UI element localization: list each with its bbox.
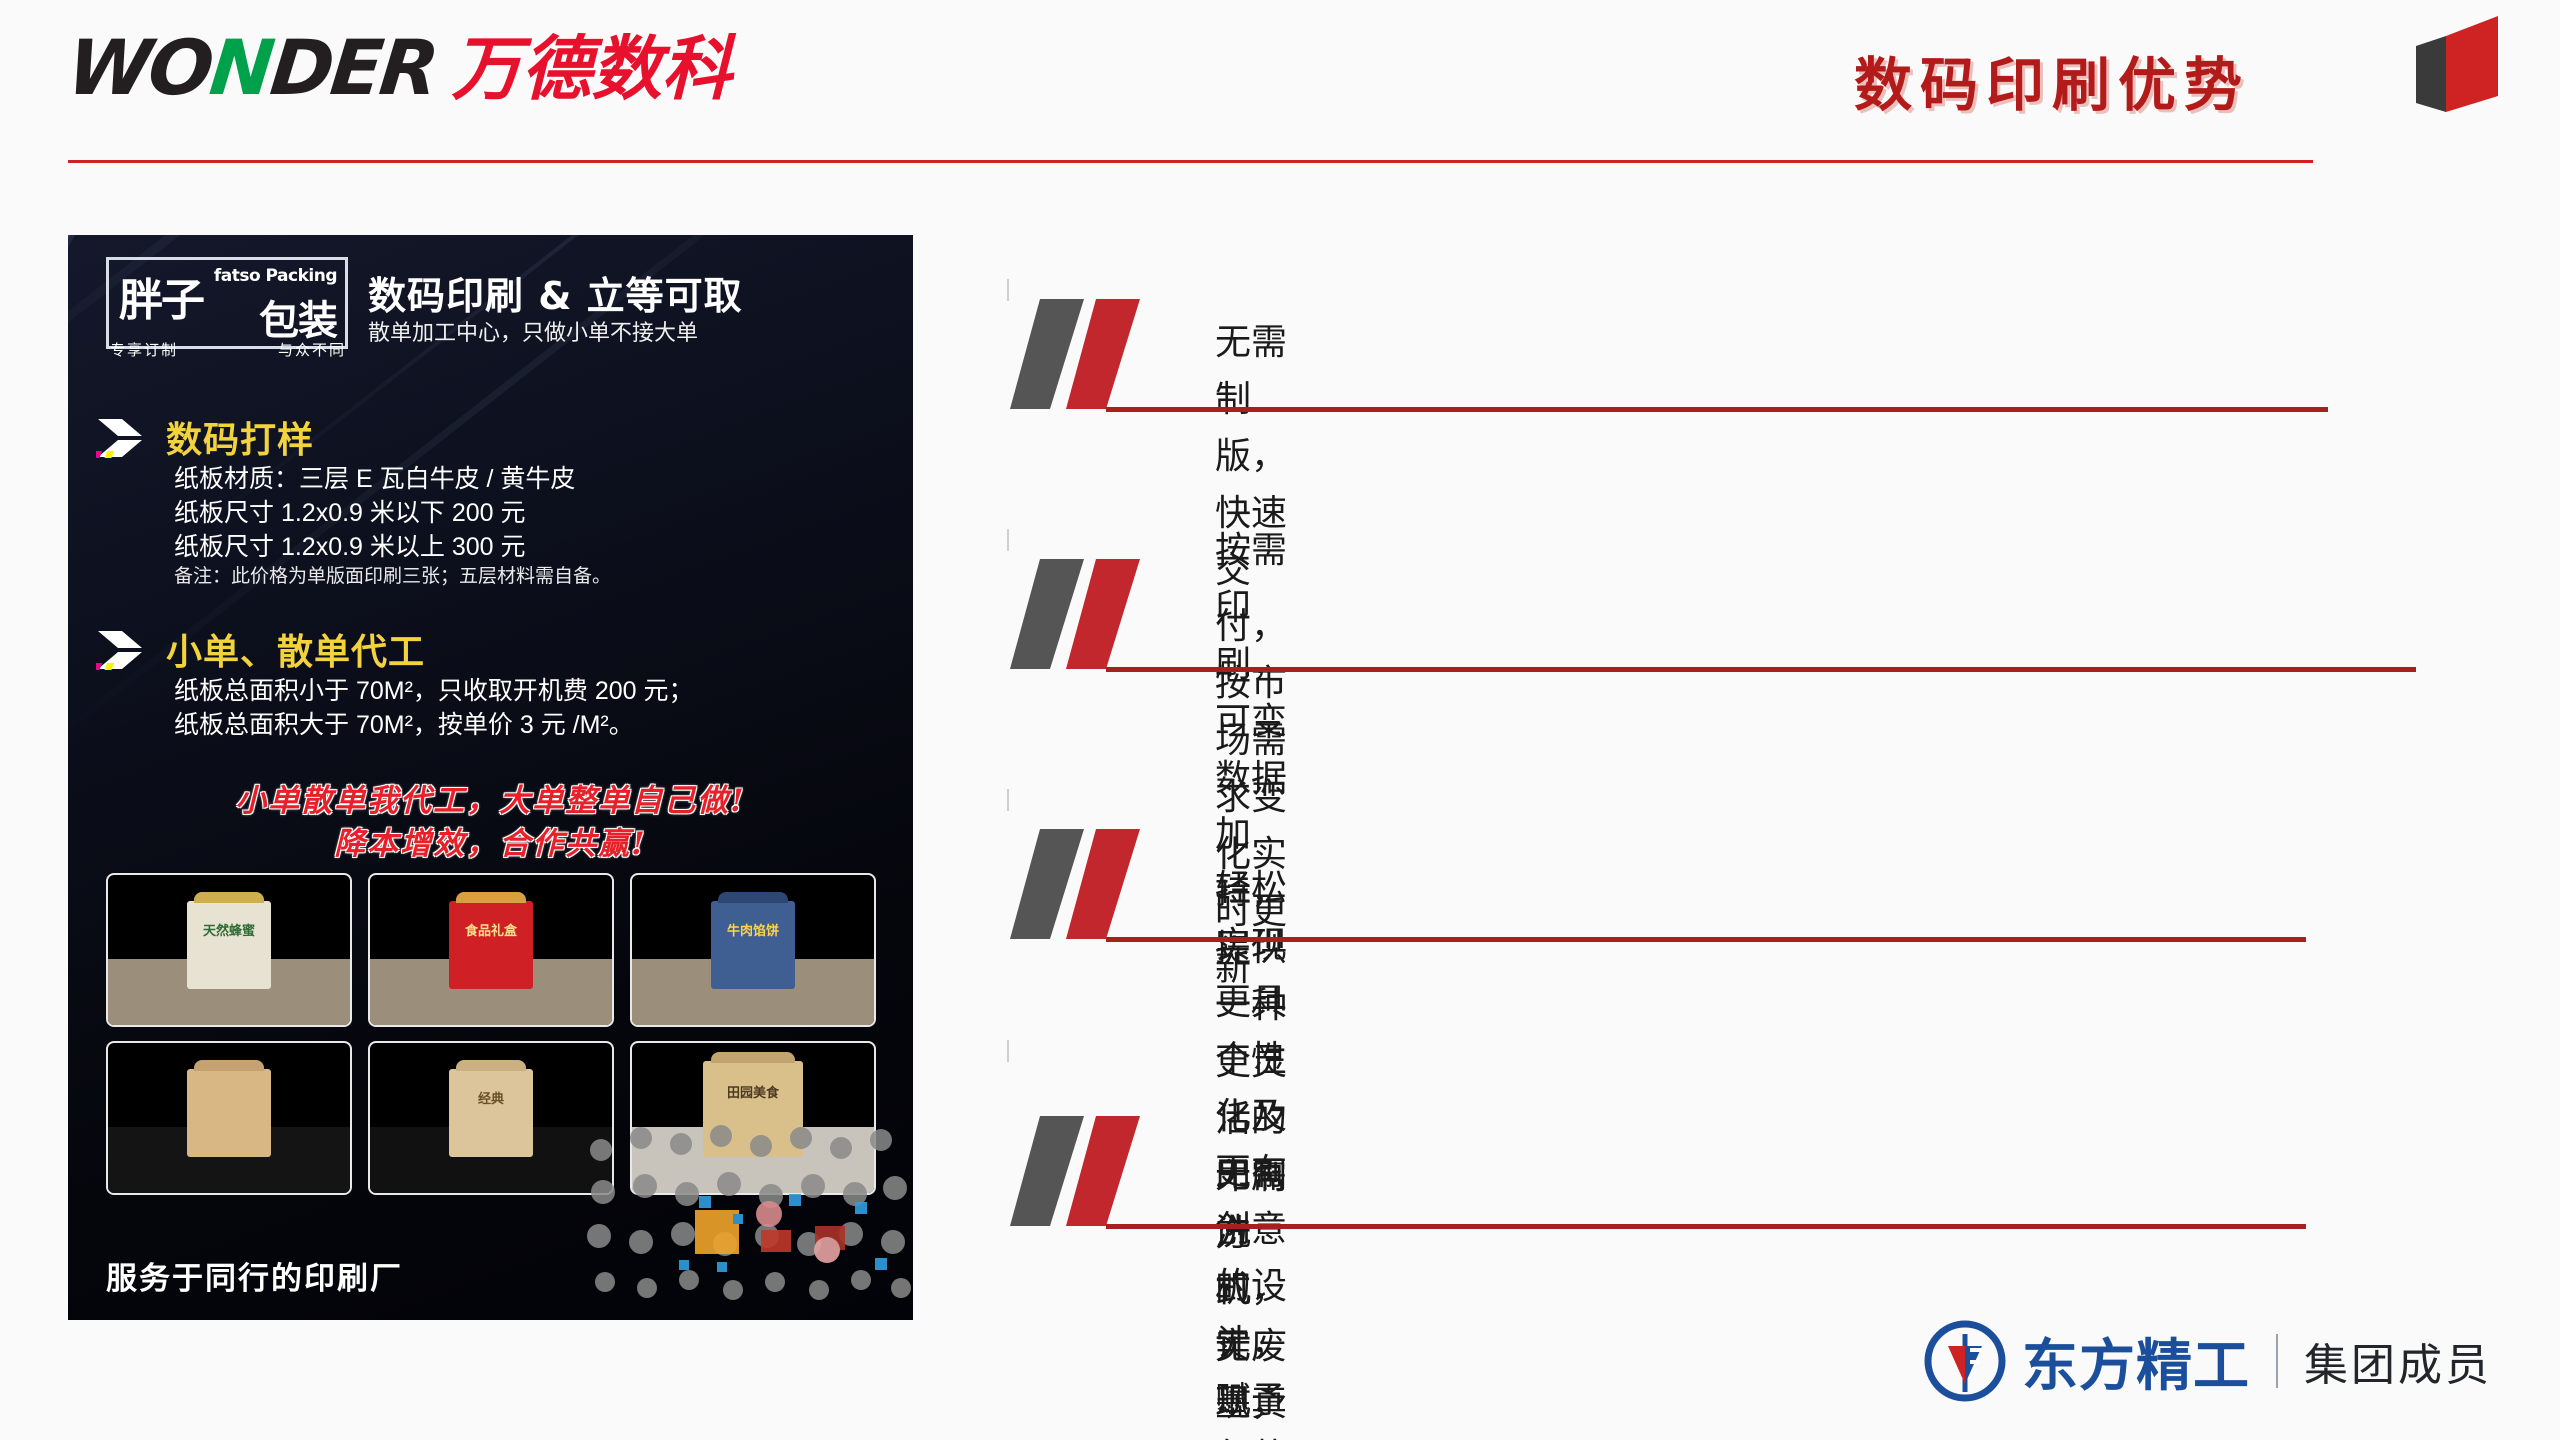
photo-box-handle bbox=[456, 1060, 527, 1071]
promo-poster-image: 胖子 fatso Packing 包装 专享订制 与众不同 数码印刷 & 立等可… bbox=[68, 235, 913, 1320]
product-photo bbox=[106, 1041, 352, 1195]
section-note: 备注：此价格为单版面印刷三张；五层材料需自备。 bbox=[174, 564, 611, 590]
double-parallelogram-marker-icon bbox=[1010, 825, 1190, 943]
decorative-dots-pattern bbox=[583, 1110, 913, 1320]
section-line: 纸板总面积大于 70M²，按单价 3 元 /M²。 bbox=[174, 709, 694, 743]
product-photo: 经典 bbox=[368, 1041, 614, 1195]
wonder-n-green: N bbox=[206, 23, 276, 112]
photo-box-handle bbox=[718, 892, 789, 903]
photo-box-label: 田园美食 bbox=[727, 1082, 779, 1101]
bullet-tick bbox=[1007, 529, 1009, 551]
page-title: 数码印刷优势 bbox=[1854, 38, 2250, 122]
bullet-tick bbox=[1007, 1040, 1009, 1062]
fatso-logo-cn: 胖子 bbox=[119, 264, 203, 328]
wonder-wo: WO bbox=[63, 23, 215, 112]
bullet-tick bbox=[1007, 789, 1009, 811]
bullet-text: 无需洗机，无废墨，采用水性墨水，更环保节能 bbox=[1215, 1148, 1287, 1440]
section-title: 小单、散单代工 bbox=[166, 623, 425, 675]
company-name-cn: 万德数科 bbox=[452, 34, 732, 104]
fatso-logo-en: fatso Packing bbox=[214, 266, 337, 286]
photo-box-handle bbox=[194, 1060, 265, 1071]
photo-box-handle bbox=[711, 1052, 795, 1063]
bullet-tick bbox=[1007, 279, 1009, 301]
arrow-bullet-icon bbox=[96, 417, 158, 463]
section-line: 纸板尺寸 1.2x0.9 米以上 300 元 bbox=[174, 531, 611, 565]
fatso-logo-bao: 包装 bbox=[259, 288, 337, 346]
wonder-wordmark: WONDER bbox=[64, 32, 439, 104]
photo-box: 经典 bbox=[449, 1069, 533, 1157]
section-line: 纸板尺寸 1.2x0.9 米以下 200 元 bbox=[174, 497, 611, 531]
fatso-tag-right: 与众不同 bbox=[278, 339, 346, 360]
company-logo: WONDER 万德数科 bbox=[68, 32, 732, 104]
poster-slogan-line1: 小单散单我代工，大单整单自己做! bbox=[68, 775, 913, 820]
photo-box-label: 经典 bbox=[478, 1088, 504, 1107]
fatso-logo-taglines: 专享订制 与众不同 bbox=[110, 339, 346, 360]
double-parallelogram-marker-icon bbox=[1010, 1112, 1190, 1230]
poster-bottom-text: 服务于同行的印刷厂 bbox=[106, 1253, 403, 1298]
bullet-underline bbox=[1106, 937, 2306, 942]
footer-group-logo: 东方精工 集团成员 bbox=[1924, 1320, 2492, 1402]
product-photo: 食品礼盒 bbox=[368, 873, 614, 1027]
section-body: 纸板总面积小于 70M²，只收取开机费 200 元； 纸板总面积大于 70M²，… bbox=[174, 675, 694, 743]
section-title: 数码打样 bbox=[166, 411, 314, 463]
photo-box-label: 天然蜂蜜 bbox=[203, 920, 255, 939]
photo-box-label: 食品礼盒 bbox=[465, 920, 517, 939]
photo-box: 天然蜂蜜 bbox=[187, 901, 271, 989]
photo-box-handle bbox=[456, 892, 527, 903]
section-line: 纸板材质：三层 E 瓦白牛皮 / 黄牛皮 bbox=[174, 463, 611, 497]
section-line: 纸板总面积小于 70M²，只收取开机费 200 元； bbox=[174, 675, 694, 709]
poster-subheadline: 散单加工中心，只做小单不接大单 bbox=[368, 315, 698, 347]
product-photo: 天然蜂蜜 bbox=[106, 873, 352, 1027]
slide-header: WONDER 万德数科 数码印刷优势 bbox=[0, 0, 2560, 175]
poster-streak bbox=[68, 235, 913, 249]
poster-slogan-line2: 降本增效，合作共赢! bbox=[68, 818, 913, 863]
section-body: 纸板材质：三层 E 瓦白牛皮 / 黄牛皮 纸板尺寸 1.2x0.9 米以下 20… bbox=[174, 463, 611, 590]
arrow-bullet-icon bbox=[96, 629, 158, 675]
bullet-underline bbox=[1106, 667, 2416, 672]
product-photo: 牛肉馅饼 bbox=[630, 873, 876, 1027]
footer-divider bbox=[2276, 1334, 2278, 1388]
bullet-underline bbox=[1106, 1224, 2306, 1229]
photo-box: 牛肉馅饼 bbox=[711, 901, 795, 989]
fatso-packing-logo: 胖子 fatso Packing 包装 bbox=[106, 257, 348, 349]
footer-company-name: 东方精工 bbox=[2022, 1321, 2250, 1402]
header-divider bbox=[68, 160, 2313, 163]
photo-box: 食品礼盒 bbox=[449, 901, 533, 989]
wonder-der: DER bbox=[266, 23, 440, 112]
double-parallelogram-marker-icon bbox=[1010, 295, 1190, 413]
bullet-text-line: 无需洗机，无废墨，采用水性墨水，更环保节能 bbox=[1215, 1148, 1287, 1440]
fatso-tag-left: 专享订制 bbox=[110, 339, 178, 360]
book-corner-icon bbox=[2400, 8, 2512, 118]
dongfang-emblem-icon bbox=[1924, 1320, 2006, 1402]
photo-box-label: 牛肉馅饼 bbox=[727, 920, 779, 939]
photo-box bbox=[187, 1069, 271, 1157]
double-parallelogram-marker-icon bbox=[1010, 555, 1190, 673]
slide-root: WONDER 万德数科 数码印刷优势 胖子 fatso Packing 包装 专… bbox=[0, 0, 2560, 1440]
photo-box-handle bbox=[194, 892, 265, 903]
bullet-underline bbox=[1106, 407, 2328, 412]
footer-member-label: 集团成员 bbox=[2304, 1329, 2492, 1393]
poster-headline: 数码印刷 & 立等可取 bbox=[368, 265, 743, 320]
